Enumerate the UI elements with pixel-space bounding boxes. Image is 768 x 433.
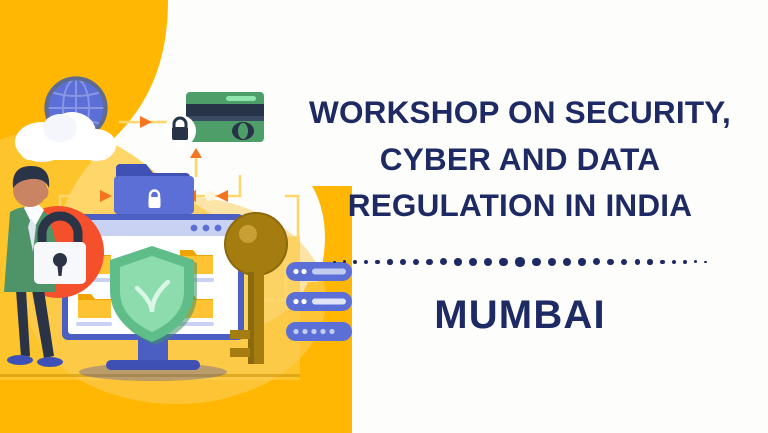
- divider-dot: [353, 260, 357, 264]
- card-lock-badge: [164, 115, 196, 147]
- city-label: MUMBAI: [434, 293, 606, 338]
- divider-dot: [635, 259, 641, 265]
- dotted-divider: [310, 251, 730, 273]
- divider-dot: [440, 258, 447, 265]
- connector-node: [205, 191, 215, 201]
- divider-dot: [607, 259, 614, 266]
- divider-dot: [343, 260, 346, 263]
- headline-line-1: WORKSHOP ON SECURITY,: [309, 89, 731, 136]
- credit-card-icon: [186, 92, 264, 142]
- divider-dot: [454, 258, 462, 266]
- divider-dot: [647, 259, 652, 264]
- divider-dot: [515, 257, 524, 266]
- divider-dot: [704, 261, 706, 263]
- divider-dot: [400, 259, 406, 265]
- divider-dot: [660, 260, 665, 265]
- divider-dot: [375, 260, 380, 265]
- divider-dot: [621, 259, 627, 265]
- divider-dot: [426, 259, 433, 266]
- divider-dot: [387, 259, 392, 264]
- headline-title: WORKSHOP ON SECURITY, CYBER AND DATA REG…: [309, 89, 731, 229]
- divider-dot: [694, 260, 697, 263]
- divider-dot: [548, 258, 556, 266]
- divider-dot: [563, 258, 571, 266]
- divider-dot: [593, 258, 600, 265]
- headline-line-2: CYBER AND DATA: [309, 136, 731, 183]
- divider-dot: [484, 258, 492, 266]
- divider-dot: [413, 259, 419, 265]
- divider-dot: [499, 258, 508, 267]
- browser-dots: [191, 225, 222, 232]
- divider-dot: [672, 260, 676, 264]
- poster-canvas: WORKSHOP ON SECURITY, CYBER AND DATA REG…: [0, 0, 768, 433]
- divider-dot: [333, 261, 335, 263]
- divider-dot: [578, 258, 586, 266]
- divider-dot: [469, 258, 477, 266]
- divider-dot: [532, 258, 541, 267]
- divider-dot: [364, 260, 368, 264]
- divider-dot: [683, 260, 687, 264]
- headline-block: WORKSHOP ON SECURITY, CYBER AND DATA REG…: [272, 0, 768, 433]
- headline-line-3: REGULATION IN INDIA: [309, 182, 731, 229]
